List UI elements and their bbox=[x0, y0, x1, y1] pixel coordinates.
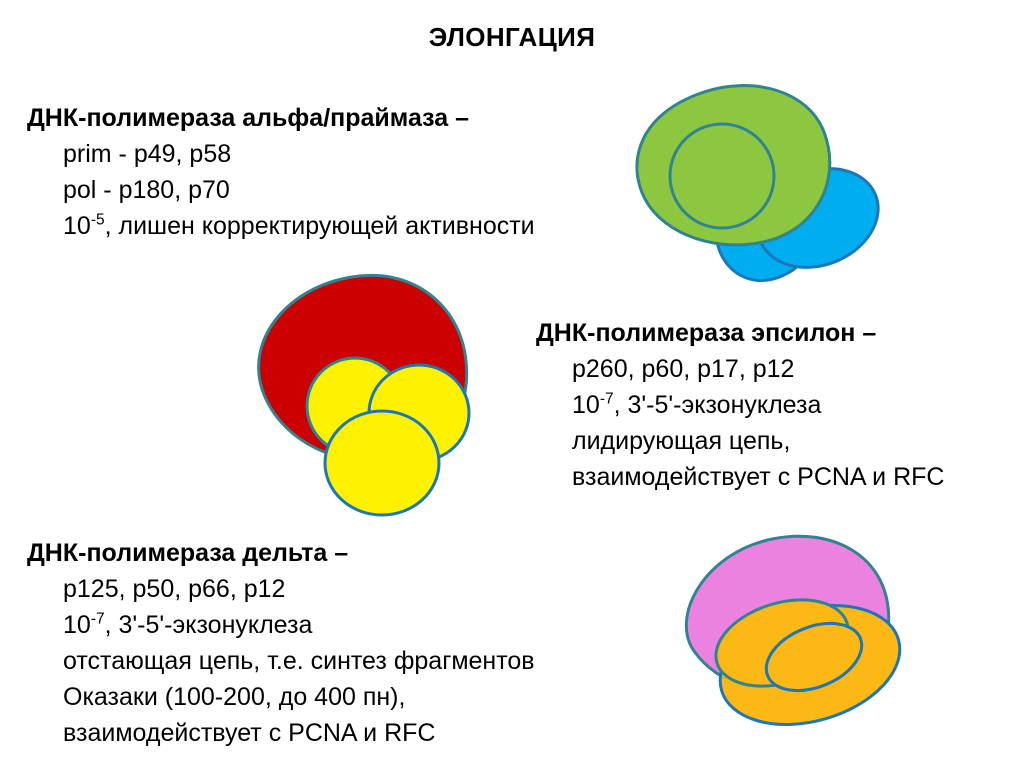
text-block-pol-alpha: ДНК-полимераза альфа/праймаза – prim - p… bbox=[27, 100, 535, 244]
page-title: ЭЛОНГАЦИЯ bbox=[0, 22, 1024, 53]
pol-alpha-line-fidelity: 10-5, лишен корректирующей активности bbox=[27, 208, 535, 244]
pol-delta-heading: ДНК-полимераза дельта – bbox=[27, 535, 535, 571]
text-block-pol-delta: ДНК-полимераза дельта – p125, p50, p66, … bbox=[27, 535, 535, 751]
slide-canvas: ЭЛОНГАЦИЯ ДНК-полимераза альфа/праймаза … bbox=[0, 0, 1024, 767]
pol-delta-line-okazaki: Оказаки (100-200, до 400 пн), bbox=[27, 679, 535, 715]
pol-delta-line-pcna-rfc: взаимодействует с PCNA и RFC bbox=[27, 715, 535, 751]
text-block-pol-epsilon: ДНК-полимераза эпсилон – p260, p60, p17,… bbox=[536, 315, 944, 495]
shape-p70-inner-subunit bbox=[670, 124, 774, 228]
diagram-pol-alpha-primase-complex bbox=[612, 70, 902, 290]
pol-alpha-exp-tail: , лишен корректирующей активности bbox=[105, 212, 535, 240]
pol-epsilon-heading: ДНК-полимераза эпсилон – bbox=[536, 315, 944, 351]
pol-epsilon-line-subunits: p260, p60, p17, p12 bbox=[536, 351, 944, 387]
pol-epsilon-exp-base: 10 bbox=[572, 391, 600, 419]
pol-epsilon-line-leading-strand: лидирующая цепь, bbox=[536, 423, 944, 459]
pol-epsilon-exp-sup: -7 bbox=[600, 391, 614, 408]
diagram-pol-epsilon-complex bbox=[252, 265, 522, 520]
pol-epsilon-exp-tail: , 3'-5'-экзонуклеза bbox=[614, 391, 822, 419]
pol-delta-exp-sup: -7 bbox=[91, 611, 105, 628]
pol-alpha-line-prim: prim - p49, p58 bbox=[27, 136, 535, 172]
diagram-pol-delta-complex bbox=[662, 525, 942, 740]
pol-epsilon-line-fidelity: 10-7, 3'-5'-экзонуклеза bbox=[536, 387, 944, 423]
pol-delta-line-subunits: p125, p50, p66, p12 bbox=[27, 571, 535, 607]
pol-delta-line-lagging-strand: отстающая цепь, т.е. синтез фрагментов bbox=[27, 643, 535, 679]
pol-delta-line-fidelity: 10-7, 3'-5'-экзонуклеза bbox=[27, 607, 535, 643]
shape-p12-subunit bbox=[325, 411, 439, 515]
pol-delta-exp-base: 10 bbox=[63, 611, 91, 639]
pol-delta-exp-tail: , 3'-5'-экзонуклеза bbox=[105, 611, 313, 639]
pol-alpha-line-pol: pol - p180, p70 bbox=[27, 172, 535, 208]
pol-alpha-exp-sup: -5 bbox=[91, 212, 105, 229]
pol-alpha-exp-base: 10 bbox=[63, 212, 91, 240]
pol-epsilon-line-pcna-rfc: взаимодействует с PCNA и RFC bbox=[536, 459, 944, 495]
pol-alpha-heading: ДНК-полимераза альфа/праймаза – bbox=[27, 100, 535, 136]
